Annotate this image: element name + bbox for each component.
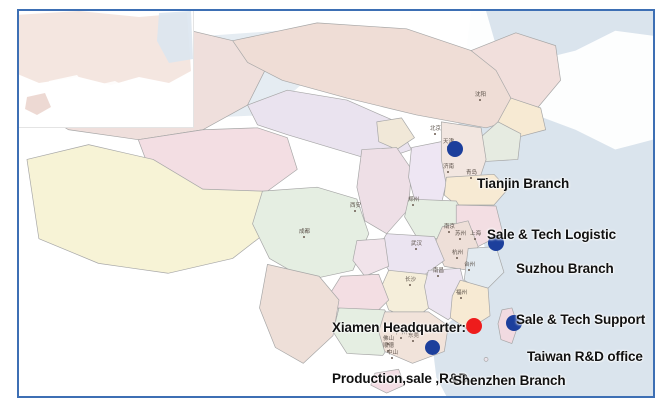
- xiamen-headquarter-label: Xiamen Headquarter: Production,sale ,R&D…: [332, 285, 468, 398]
- map-city-label: 武汉: [411, 241, 422, 247]
- northwest-inset-panel: [19, 11, 194, 128]
- map-frame: 沈阳天津北京济南青岛郑州西安成都 武汉南京苏州上海杭州长沙南昌台州福州广州佛山东…: [17, 9, 655, 398]
- map-city-dot: [474, 238, 476, 240]
- map-city-label: 西安: [350, 203, 361, 209]
- map-city-dot: [437, 275, 439, 277]
- shenzhen-label-line1: Shenzhen Branch: [453, 372, 582, 389]
- map-city-dot: [479, 99, 481, 101]
- map-city-label: 青岛: [466, 170, 477, 176]
- suzhou-label-line1: Suzhou Branch: [516, 260, 645, 277]
- xiamen-label-line2: Production,sale ,R&D: [332, 370, 468, 387]
- screenshot-root: 沈阳天津北京济南青岛郑州西安成都 武汉南京苏州上海杭州长沙南昌台州福州广州佛山东…: [0, 0, 670, 416]
- map-city-dot: [412, 204, 414, 206]
- map-city-dot: [415, 248, 417, 250]
- map-city-dot: [456, 257, 458, 259]
- map-city-dot: [468, 269, 470, 271]
- map-city-label: 杭州: [452, 250, 463, 256]
- map-city-label: 北京: [430, 126, 441, 132]
- map-city-label: 南昌: [433, 268, 444, 274]
- map-city-dot: [459, 238, 461, 240]
- map-city-label: 济南: [443, 164, 454, 170]
- map-city-dot: [434, 133, 436, 135]
- map-city-label: 郑州: [408, 197, 419, 203]
- map-city-label: 长沙: [405, 277, 416, 283]
- map-city-label: 南京: [444, 224, 455, 230]
- map-city-dot: [354, 210, 356, 212]
- inset-map-graphic: [19, 11, 193, 127]
- tianjin-marker[interactable]: [447, 141, 463, 157]
- map-city-label: 台州: [464, 262, 475, 268]
- xiamen-marker[interactable]: [466, 318, 482, 334]
- shenzhen-branch-label: Shenzhen Branch Sale & Tech Support: [453, 338, 582, 398]
- map-city-label: 苏州: [455, 231, 466, 237]
- map-city-dot: [303, 236, 305, 238]
- map-city-dot: [470, 177, 472, 179]
- xiamen-label-line1: Xiamen Headquarter:: [332, 319, 468, 336]
- map-city-dot: [447, 171, 449, 173]
- tianjin-label-line1: Tianjin Branch: [477, 175, 616, 192]
- map-city-label: 沈阳: [475, 92, 486, 98]
- map-city-dot: [448, 231, 450, 233]
- map-city-label: 成都: [299, 229, 316, 235]
